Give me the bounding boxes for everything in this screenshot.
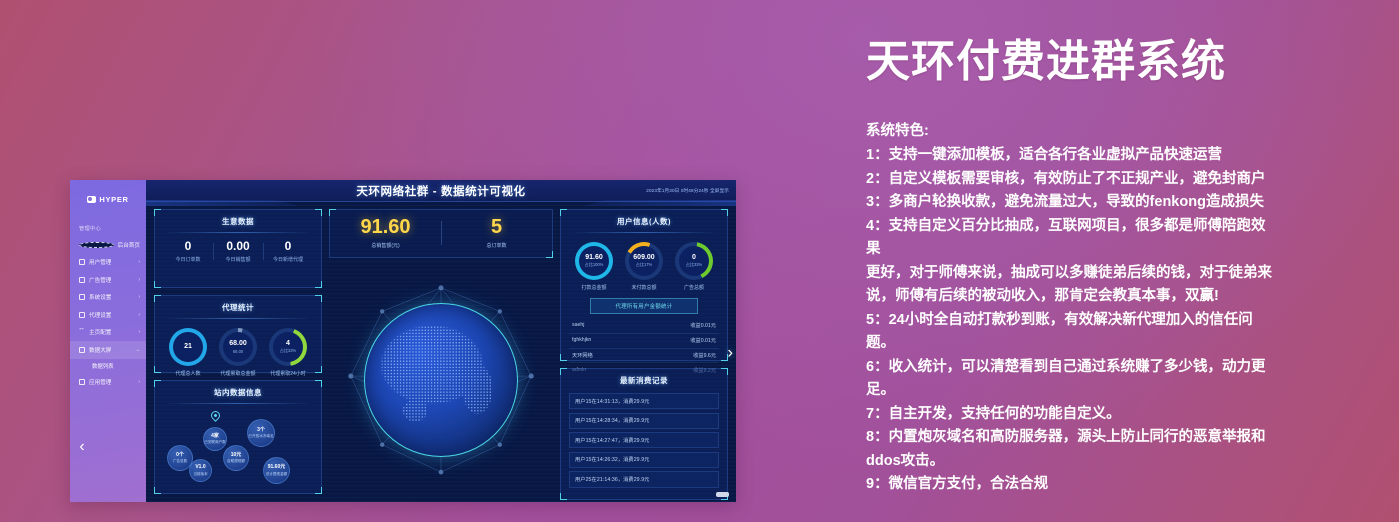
divider (165, 318, 311, 319)
sidebar-item-ads[interactable]: 广告管理 › (70, 271, 146, 289)
corner-icon (154, 487, 161, 494)
donut-chart: 4 占比33% (269, 328, 307, 366)
card-title: 站内数据信息 (163, 387, 313, 403)
feature-line: 6：收入统计，可以清楚看到自己通过系统赚了多少钱，动力更 (866, 356, 1274, 379)
donut-value: 0 (692, 254, 696, 261)
globe-landmass (365, 304, 517, 456)
feature-line: 5：24小时全自动打款秒到账，有效解决新代理加入的信任问 (866, 309, 1274, 332)
donut-caption: 代理累取总金额 (214, 370, 262, 377)
headline-stats: 91.60 总销售额(元) 5 总订单数 (329, 209, 553, 258)
stat-caption: 总订单数 (441, 242, 552, 249)
ring-agent-total: 21 代理总人数 (164, 328, 212, 377)
sidebar-item-label: 用户管理 (89, 258, 111, 266)
sidebar-item-users[interactable]: 用户管理 › (70, 254, 146, 272)
user-name: 天环网络 (572, 352, 593, 359)
sidebar-item-homepage-config[interactable]: 主页配置 › (70, 324, 146, 342)
feature-line: 题。 (866, 332, 1274, 355)
card-title: 生意数据 (163, 216, 313, 232)
chevron-right-icon[interactable]: › (727, 344, 733, 361)
center-column: 91.60 总销售额(元) 5 总订单数 (329, 209, 553, 494)
corner-icon (154, 209, 161, 216)
chevron-right-icon: › (138, 379, 140, 385)
donut-center: 0 占比33% (679, 246, 710, 277)
stat-caption: 今日订单数 (163, 256, 213, 263)
stat-today-sales: 0.00 今日销售额 (213, 240, 263, 263)
feature-line: 足。 (866, 379, 1274, 402)
sidebar-collapse-button[interactable]: ‹ (73, 438, 91, 456)
table-row: 用户15在14:31:13，消费29.9元 (569, 393, 719, 409)
stat-total-orders: 5 总订单数 (441, 217, 552, 249)
corner-icon (721, 368, 728, 375)
sidebar-subitem-data-list[interactable]: 数据列表 (70, 359, 146, 374)
donut-chart: 91.60 占比100% (575, 242, 613, 280)
layout-icon (79, 329, 85, 335)
bubble-chart: 0个 广告总数 4家 已关联商户数 3个 已开放冰冻域名 10元 (163, 411, 313, 485)
sidebar-item-home[interactable]: 后台首页 (70, 236, 146, 254)
dashboard-header: 天环网络社群 - 数据统计可视化 2023年1月30日 0时48分24秒 全屏显… (146, 180, 736, 202)
donut-center: 91.60 占比100% (579, 246, 610, 277)
user-amount: 收益9.6元 (693, 352, 716, 359)
ring-agent-amount: 68.00 68.00 代理累取总金额 (214, 328, 262, 377)
window-indicator (716, 492, 729, 497)
user-name: saehj (572, 322, 584, 329)
bubble: 3个 已开放冰冻域名 (247, 419, 275, 447)
dashboard-clock[interactable]: 2023年1月30日 0时48分24秒 全屏显示 (646, 188, 729, 194)
ring-unpaid-total: 609.00 占比17% 未付款总额 (620, 242, 668, 291)
donut-percent: 68.00 (233, 349, 243, 354)
feature-line: 4：支持自定义百分比抽成，互联网项目，很多都是师傅陪跑效果 (866, 215, 1274, 262)
megaphone-icon (79, 277, 85, 283)
stat-value: 5 (441, 217, 552, 237)
donut-chart: 21 (169, 328, 207, 366)
table-row: 用户15在14:28:34，消费29.9元 (569, 413, 719, 429)
bubble-value: 3个 (257, 428, 265, 434)
bubble-value: V1.0 (195, 465, 205, 471)
bubble-caption: 广告总数 (173, 459, 187, 463)
corner-icon (315, 281, 322, 288)
brand-logo-icon (87, 196, 96, 203)
chevron-right-icon: › (138, 259, 140, 265)
marketing-pane: 天环付费进群系统 系统特色: 1：支持一键添加模板，适合各行各业虚拟产品快速运营… (866, 0, 1399, 522)
donut-caption: 打款总金额 (570, 284, 618, 291)
data-screen: 天环网络社群 - 数据统计可视化 2023年1月30日 0时48分24秒 全屏显… (146, 180, 736, 502)
card-title: 用户信息(人数) (569, 216, 719, 232)
stat-caption: 今日销售额 (213, 256, 263, 263)
divider (165, 403, 311, 404)
corner-icon (315, 295, 322, 302)
donut-chart: 0 占比33% (675, 242, 713, 280)
donut-value: 68.00 (229, 340, 247, 347)
agent-user-amount-tag[interactable]: 代理所有用户金额统计 (590, 298, 698, 314)
table-row: 用户15在14:27:47，消费29.9元 (569, 432, 719, 448)
feature-line: 7：自主开发，支持任何的功能自定义。 (866, 403, 1274, 426)
bubble: 91.60元 总计提现金额 (263, 457, 290, 484)
stat-value: 0.00 (213, 240, 263, 253)
chevron-down-icon: ⌄ (136, 347, 140, 353)
ring-ads-total: 0 占比33% 广告总额 (670, 242, 718, 291)
donut-value: 4 (286, 340, 290, 347)
corner-icon (315, 209, 322, 216)
corner-icon (560, 354, 567, 361)
bubble-caption: 已关联商户数 (204, 440, 226, 444)
divider (571, 232, 717, 233)
feature-line: ddos攻击。 (866, 450, 1274, 473)
feature-line: 2：自定义模板需要审核，有效防止了不正规产业，避免封商户 (866, 168, 1274, 191)
agent-stats-card: 代理统计 21 代理总人数 (154, 295, 322, 373)
bubble-value: 91.60元 (268, 465, 286, 471)
latest-records-card: 最新消费记录 用户15在14:31:13，消费29.9元 用户15在14:28:… (560, 368, 728, 500)
corner-icon (546, 251, 553, 258)
user-name: fghkhjkn (572, 337, 591, 344)
bubble: 4家 已关联商户数 (203, 427, 227, 451)
globe-icon (364, 303, 518, 457)
card-title: 代理统计 (163, 302, 313, 318)
list-item: fghkhjkn 收益0.01元 (569, 334, 719, 349)
stat-caption: 总销售额(元) (330, 242, 441, 249)
corner-icon (154, 380, 161, 387)
bubble-value: 0个 (176, 453, 184, 459)
donut-center: 4 占比33% (273, 332, 304, 363)
bubble-caption: 已开放冰冻域名 (248, 434, 273, 438)
donut-percent: 占比33% (280, 348, 296, 354)
stat-value: 91.60 (330, 217, 441, 237)
user-amount: 收益0.01元 (690, 337, 716, 344)
sidebar-item-agent[interactable]: 代理设置 › (70, 306, 146, 324)
donut-value: 91.60 (585, 254, 603, 261)
feature-list: 系统特色: 1：支持一键添加模板，适合各行各业虚拟产品快速运营 2：自定义模板需… (866, 120, 1274, 497)
feature-line: 说，师傅有后续的被动收入，那肯定会教真本事，双赢! (866, 285, 1274, 308)
corner-icon (560, 368, 567, 375)
dashboard-title: 天环网络社群 - 数据统计可视化 (356, 183, 525, 199)
globe-visualization (329, 265, 553, 494)
page-title: 天环付费进群系统 (866, 34, 1266, 90)
bubble: 10元 自助提现额 (223, 445, 249, 471)
records-list: 用户15在14:31:13，消费29.9元 用户15在14:28:34，消费29… (569, 393, 719, 488)
donut-caption: 代理总人数 (164, 370, 212, 377)
gear-icon (79, 294, 85, 300)
stat-today-new-agents: 0 今日新增代理 (263, 240, 313, 263)
corner-icon (154, 366, 161, 373)
list-item: 天环网络 收益9.6元 (569, 349, 719, 364)
users-icon (79, 259, 85, 265)
donut-percent: 占比100% (585, 262, 604, 268)
divider (165, 232, 311, 233)
sidebar-item-label: 系统设置 (89, 293, 111, 301)
table-row: 用户15在14:26:32，消费29.9元 (569, 452, 719, 468)
corner-icon (560, 493, 567, 500)
brand-logo-text: HYPER (99, 195, 128, 204)
corner-icon (154, 295, 161, 302)
corner-icon (315, 380, 322, 387)
chevron-right-icon: › (138, 312, 140, 318)
donut-center: 609.00 占比17% (629, 246, 660, 277)
user-amount: 收益0.01元 (690, 322, 716, 329)
ring-paid-total: 91.60 占比100% 打款总金额 (570, 242, 618, 291)
stat-caption: 今日新增代理 (263, 256, 313, 263)
sidebar-item-label: 代理设置 (89, 311, 111, 319)
sidebar-item-label: 广告管理 (89, 276, 111, 284)
sidebar-subitem-label: 数据列表 (92, 362, 114, 370)
user-ring-row: 91.60 占比100% 打款总金额 609.00 占比17% (569, 240, 719, 291)
stat-today-orders: 0 今日订单数 (163, 240, 213, 263)
screen-icon (79, 347, 85, 353)
corner-icon (721, 209, 728, 216)
donut-caption: 代理累取24小时 (264, 370, 312, 377)
feature-line: 9：微信官方支付，合法合规 (866, 473, 1274, 496)
sidebar-item-settings[interactable]: 系统设置 › (70, 289, 146, 307)
feature-line: 1：支持一键添加模板，适合各行各业虚拟产品快速运营 (866, 144, 1274, 167)
agent-icon (79, 312, 85, 318)
corner-icon (315, 366, 322, 373)
left-column: 生意数据 0 今日订单数 0.00 今日销售额 0 今日新 (154, 209, 322, 494)
bubble-caption: 当前版本 (193, 472, 207, 476)
corner-icon (329, 209, 336, 216)
bubble-value: 10元 (231, 453, 242, 459)
stat-row: 0 今日订单数 0.00 今日销售额 0 今日新增代理 (163, 240, 313, 263)
donut-caption: 广告总额 (670, 284, 718, 291)
card-title: 最新消费记录 (569, 375, 719, 391)
sidebar-item-label: 应用管理 (89, 378, 111, 386)
stat-total-sales: 91.60 总销售额(元) (330, 217, 441, 249)
donut-percent: 占比17% (636, 262, 652, 268)
ring-agent-24h: 4 占比33% 代理累取24小时 (264, 328, 312, 377)
feature-line: 更好，对于师傅来说，抽成可以多赚徒弟后续的钱，对于徒弟来 (866, 262, 1274, 285)
donut-chart: 609.00 占比17% (625, 242, 663, 280)
dashboard-screenshot: HYPER 管理中心 后台首页 用户管理 › 广告管理 › 系统设置 › 代理设… (70, 180, 736, 502)
apps-icon (79, 379, 85, 385)
user-info-card: 用户信息(人数) 91.60 占比100% 打款总金额 (560, 209, 728, 361)
bubble: V1.0 当前版本 (189, 459, 212, 482)
bubble-caption: 总计提现金额 (266, 472, 288, 476)
bubble-value: 4家 (211, 434, 219, 440)
donut-percent: 占比33% (686, 262, 702, 268)
donut-value: 609.00 (633, 254, 654, 261)
sidebar-item-data-screen[interactable]: 数据大屏 ⌄ (70, 341, 146, 359)
stat-value: 0 (163, 240, 213, 253)
location-pin-icon (209, 409, 222, 422)
corner-icon (560, 209, 567, 216)
feature-line: 8：内置炮灰域名和高防服务器，源头上防止同行的恶意举报和 (866, 426, 1274, 449)
sidebar-item-label: 数据大屏 (89, 346, 111, 354)
stat-value: 0 (263, 240, 313, 253)
list-item: saehj 收益0.01元 (569, 319, 719, 334)
business-data-card: 生意数据 0 今日订单数 0.00 今日销售额 0 今日新 (154, 209, 322, 288)
corner-icon (154, 281, 161, 288)
chevron-right-icon: › (138, 277, 140, 283)
donut-value: 21 (184, 343, 192, 350)
sidebar-item-label: 主页配置 (89, 328, 111, 336)
donut-center: 68.00 68.00 (223, 332, 254, 363)
sidebar-item-label: 后台首页 (118, 241, 140, 249)
chevron-right-icon: › (138, 329, 140, 335)
feature-list-heading: 系统特色: (866, 120, 1274, 143)
sidebar-group-label: 管理中心 (70, 221, 146, 236)
donut-caption: 未付款总额 (620, 284, 668, 291)
site-data-card: 站内数据信息 0个 广告总数 4家 已关联商户数 3个 (154, 380, 322, 494)
corner-icon (315, 487, 322, 494)
donut-center: 21 (173, 332, 204, 363)
sidebar-item-apps[interactable]: 应用管理 › (70, 374, 146, 392)
donut-chart: 68.00 68.00 (219, 328, 257, 366)
chevron-right-icon: › (138, 294, 140, 300)
agent-ring-row: 21 代理总人数 68.00 68.00 (163, 326, 313, 377)
dashboard-grid: 生意数据 0 今日订单数 0.00 今日销售额 0 今日新 (146, 202, 736, 502)
table-row: 用户25在21:14:36，消费29.9元 (569, 471, 719, 487)
right-column: 用户信息(人数) 91.60 占比100% 打款总金额 (560, 209, 728, 494)
home-icon (79, 242, 114, 248)
sidebar-logo: HYPER (70, 189, 146, 209)
feature-line: 3：多商户轮换收款，避免流量过大，导致的fenkong造成损失 (866, 191, 1274, 214)
bubble-caption: 自助提现额 (227, 459, 245, 463)
sidebar: HYPER 管理中心 后台首页 用户管理 › 广告管理 › 系统设置 › 代理设… (70, 180, 146, 502)
